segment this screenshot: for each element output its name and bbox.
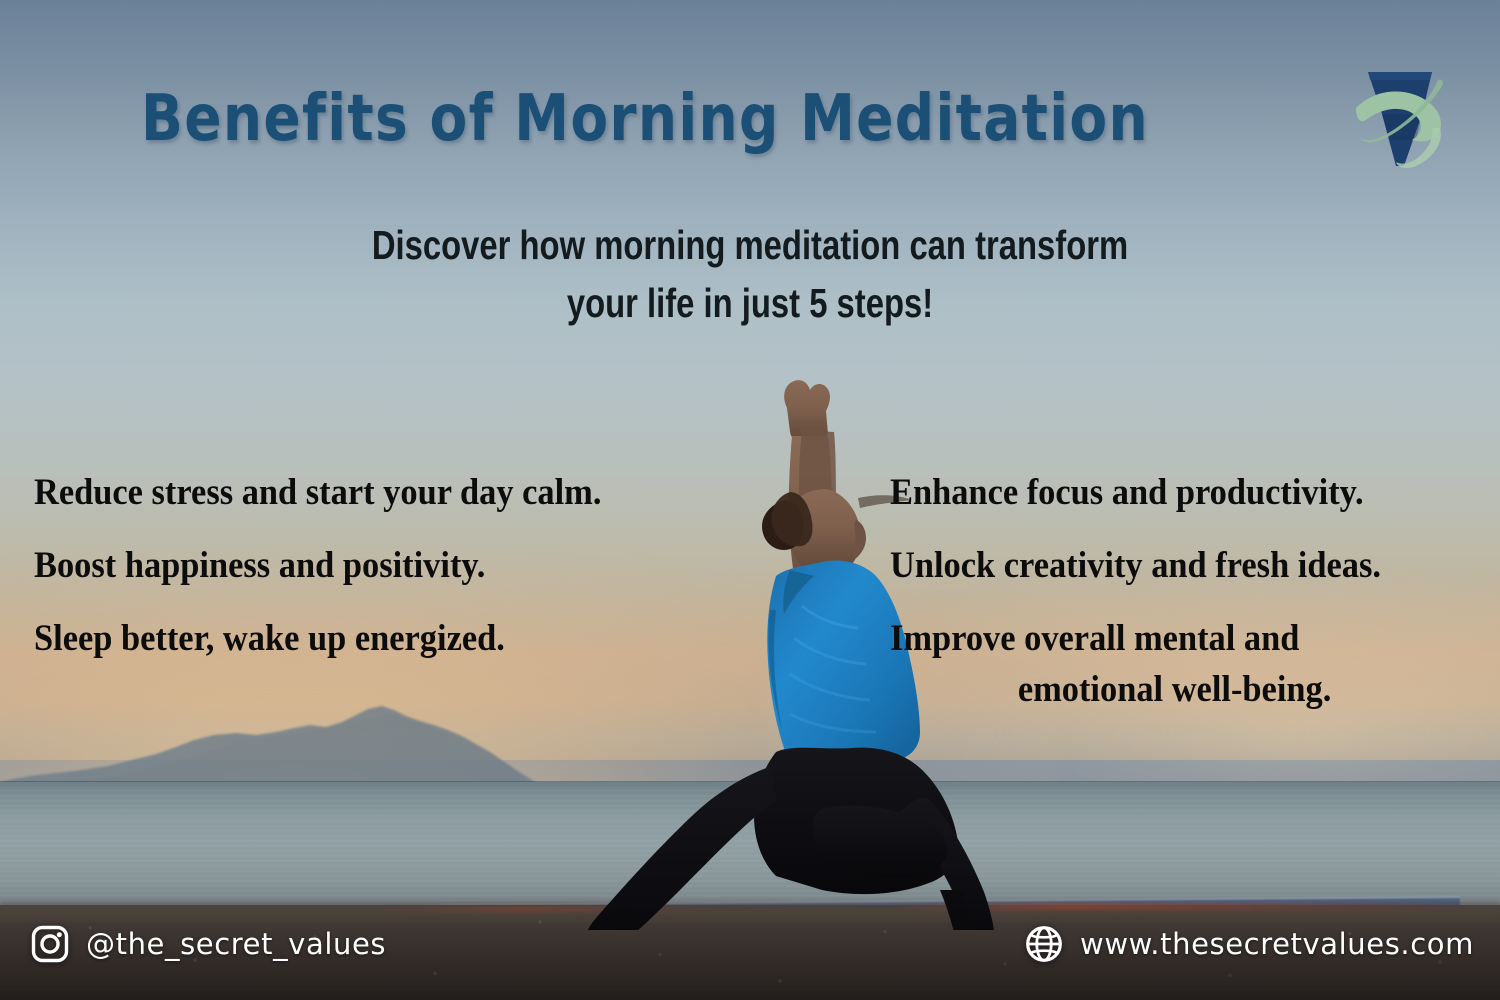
footer-instagram[interactable]: @the_secret_values xyxy=(30,924,386,964)
benefit-line-1: Improve overall mental and xyxy=(890,618,1299,659)
thesecretvalues-logo[interactable] xyxy=(1352,62,1448,174)
benefit-item: Boost happiness and positivity. xyxy=(34,547,741,584)
benefits-list-left: Reduce stress and start your day calm. B… xyxy=(34,474,794,693)
poster-canvas: Benefits of Morning Meditation Discover … xyxy=(0,0,1500,1000)
footer-website[interactable]: www.thesecretvalues.com xyxy=(1024,924,1474,964)
poster-subtitle: Discover how morning meditation can tran… xyxy=(350,216,1150,332)
instagram-handle[interactable]: @the_secret_values xyxy=(86,927,386,961)
instagram-icon[interactable] xyxy=(30,924,70,964)
benefits-list-right: Enhance focus and productivity. Unlock c… xyxy=(890,474,1500,744)
poster-title: Benefits of Morning Meditation xyxy=(90,82,1199,156)
benefit-item: Reduce stress and start your day calm. xyxy=(34,474,741,511)
benefit-item: Enhance focus and productivity. xyxy=(890,474,1459,511)
benefit-item: Unlock creativity and fresh ideas. xyxy=(890,547,1459,584)
benefit-item: Improve overall mental and emotional wel… xyxy=(890,620,1459,708)
subtitle-line-2: your life in just 5 steps! xyxy=(350,274,1150,332)
benefit-item: Sleep better, wake up energized. xyxy=(34,620,741,657)
website-url[interactable]: www.thesecretvalues.com xyxy=(1080,927,1474,961)
benefit-line-2: emotional well-being. xyxy=(890,671,1459,708)
globe-icon[interactable] xyxy=(1024,924,1064,964)
subtitle-line-1: Discover how morning meditation can tran… xyxy=(350,216,1150,274)
